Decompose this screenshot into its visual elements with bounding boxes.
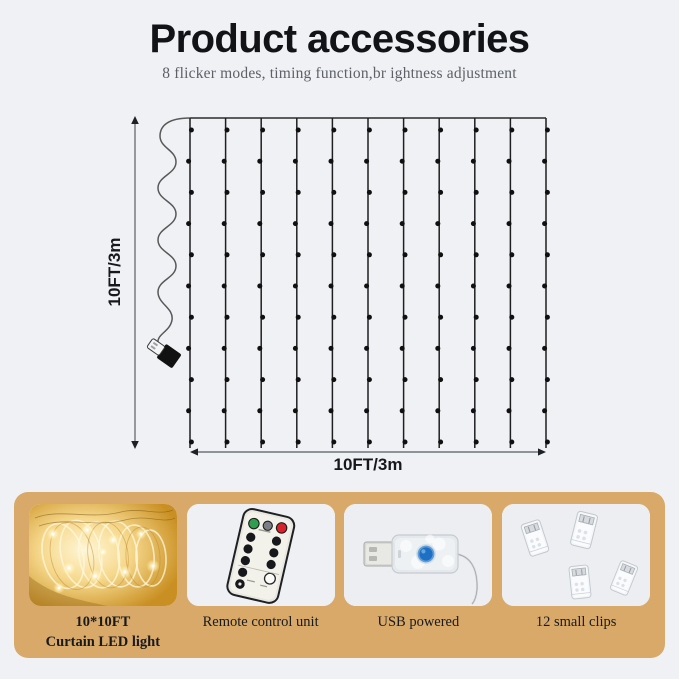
led-bulb (225, 128, 230, 133)
led-bulb (474, 128, 479, 133)
led-bulb (331, 190, 336, 195)
led-bulb (222, 346, 227, 351)
led-bulb (438, 440, 443, 445)
led-bulb (403, 377, 408, 382)
led-bulb (257, 284, 262, 289)
led-bulb (364, 408, 369, 413)
led-bulb (438, 377, 443, 382)
led-bulb (471, 221, 476, 226)
led-string-light-photo (29, 504, 177, 606)
led-bulb (364, 346, 369, 351)
led-bulb (189, 128, 194, 133)
remote-control-photo (187, 504, 335, 606)
led-bulb (367, 252, 372, 257)
led-bulb (257, 159, 262, 164)
led-bulb (474, 377, 479, 382)
led-bulb (471, 159, 476, 164)
led-bulb (507, 221, 512, 226)
usb-connector-photo (344, 504, 492, 606)
dimension-diagram: 10FT/3m (0, 100, 679, 490)
led-bulb (225, 190, 230, 195)
led-bulb (542, 284, 547, 289)
led-bulb (296, 315, 301, 320)
led-bulb (435, 284, 440, 289)
led-bulb (189, 252, 194, 257)
accessory-item-usb-powered[interactable]: USB powered (340, 504, 498, 633)
curtain-light-drawing (0, 100, 679, 490)
led-bulb (438, 315, 443, 320)
led-bulb (367, 377, 372, 382)
led-bulb (545, 377, 550, 382)
led-bulb (296, 128, 301, 133)
led-bulb (260, 377, 265, 382)
led-bulb (329, 221, 334, 226)
led-bulb (364, 284, 369, 289)
led-bulb (331, 440, 336, 445)
led-bulb (186, 346, 191, 351)
led-bulb (260, 128, 265, 133)
led-bulb (364, 221, 369, 226)
led-bulb (507, 408, 512, 413)
led-bulb (509, 128, 514, 133)
height-dimension-arrow (131, 116, 139, 449)
led-bulb (367, 315, 372, 320)
led-bulb (507, 346, 512, 351)
accessory-caption: Remote control unit (203, 613, 319, 633)
led-bulb (438, 190, 443, 195)
led-bulb (260, 440, 265, 445)
led-bulb (189, 315, 194, 320)
led-bulb (542, 221, 547, 226)
width-dimension-label: 10FT/3m (190, 455, 546, 475)
page-subtitle: 8 flicker modes, timing function,br ight… (0, 65, 679, 83)
led-bulb (507, 159, 512, 164)
accessory-caption: 10*10FT Curtain LED light (46, 613, 160, 652)
led-strands (186, 118, 550, 448)
led-bulb (435, 408, 440, 413)
page-title: Product accessories (0, 18, 679, 60)
led-bulb (400, 346, 405, 351)
led-bulb (222, 408, 227, 413)
led-bulb (474, 252, 479, 257)
led-bulb (329, 346, 334, 351)
led-bulb (293, 346, 298, 351)
led-bulb (186, 159, 191, 164)
led-bulb (329, 284, 334, 289)
led-bulb (474, 190, 479, 195)
led-bulb (257, 221, 262, 226)
small-clips-thumbnail (502, 504, 650, 606)
led-bulb (189, 377, 194, 382)
led-bulb (293, 159, 298, 164)
led-bulb (186, 284, 191, 289)
usb-powered-thumbnail (344, 504, 492, 606)
led-bulb (329, 408, 334, 413)
led-bulb (225, 440, 230, 445)
led-bulb (471, 284, 476, 289)
led-bulb (260, 190, 265, 195)
led-bulb (435, 159, 440, 164)
led-bulb (542, 159, 547, 164)
led-bulb (293, 408, 298, 413)
led-bulb (400, 284, 405, 289)
led-bulb (403, 252, 408, 257)
led-bulb (545, 440, 550, 445)
led-bulb (400, 221, 405, 226)
led-bulb (225, 315, 230, 320)
led-bulb (331, 128, 336, 133)
led-bulb (403, 128, 408, 133)
led-bulb (331, 252, 336, 257)
led-bulb (509, 440, 514, 445)
led-bulb (438, 252, 443, 257)
led-bulb (435, 346, 440, 351)
led-bulb (474, 315, 479, 320)
led-bulb (329, 159, 334, 164)
led-bulb (509, 190, 514, 195)
height-dimension-label: 10FT/3m (105, 212, 125, 332)
led-bulb (186, 221, 191, 226)
led-bulb (545, 252, 550, 257)
led-bulb (509, 377, 514, 382)
led-bulb (293, 221, 298, 226)
led-bulb (293, 284, 298, 289)
lead-in-cable (158, 118, 190, 352)
led-bulb (367, 440, 372, 445)
curtain-led-light-thumbnail (29, 504, 177, 606)
led-bulb (186, 408, 191, 413)
header: Product accessories 8 flicker modes, tim… (0, 18, 679, 83)
led-bulb (296, 440, 301, 445)
led-bulb (260, 315, 265, 320)
led-bulb (509, 252, 514, 257)
led-bulb (400, 159, 405, 164)
led-bulb (545, 190, 550, 195)
led-bulb (435, 221, 440, 226)
led-bulb (225, 252, 230, 257)
led-bulb (545, 128, 550, 133)
led-bulb (222, 284, 227, 289)
led-bulb (296, 252, 301, 257)
accessory-item-curtain-led-light[interactable]: 10*10FT Curtain LED light (24, 504, 182, 652)
led-bulb (364, 159, 369, 164)
led-bulb (471, 346, 476, 351)
led-bulb (542, 346, 547, 351)
product-accessories-infographic: Product accessories 8 flicker modes, tim… (0, 0, 679, 679)
led-bulb (403, 440, 408, 445)
led-bulb (367, 190, 372, 195)
led-bulb (296, 190, 301, 195)
led-bulb (367, 128, 372, 133)
accessories-strip: 10*10FT Curtain LED light (14, 492, 665, 658)
usb-metal-plug (364, 542, 394, 566)
led-bulb (189, 440, 194, 445)
accessory-caption: USB powered (377, 613, 459, 633)
led-bulb (225, 377, 230, 382)
led-bulb (403, 315, 408, 320)
led-bulb (509, 315, 514, 320)
led-bulb (257, 346, 262, 351)
led-bulb (545, 315, 550, 320)
led-bulb (331, 377, 336, 382)
led-bulb (331, 315, 336, 320)
plastic-clips-photo (502, 504, 650, 606)
led-bulb (222, 221, 227, 226)
led-bulb (403, 190, 408, 195)
led-bulb (400, 408, 405, 413)
led-bulb (474, 440, 479, 445)
accessory-item-small-clips[interactable]: 12 small clips (497, 504, 655, 633)
usb-housing (392, 535, 458, 574)
usb-plug-icon (145, 336, 182, 369)
led-bulb (471, 408, 476, 413)
accessory-caption: 12 small clips (536, 613, 617, 633)
led-bulb (260, 252, 265, 257)
led-bulb (542, 408, 547, 413)
led-bulb (296, 377, 301, 382)
remote-control-thumbnail (187, 504, 335, 606)
led-bulb (507, 284, 512, 289)
led-bulb (257, 408, 262, 413)
accessory-item-remote-control-unit[interactable]: Remote control unit (182, 504, 340, 633)
led-bulb (189, 190, 194, 195)
led-bulb (222, 159, 227, 164)
led-bulb (438, 128, 443, 133)
